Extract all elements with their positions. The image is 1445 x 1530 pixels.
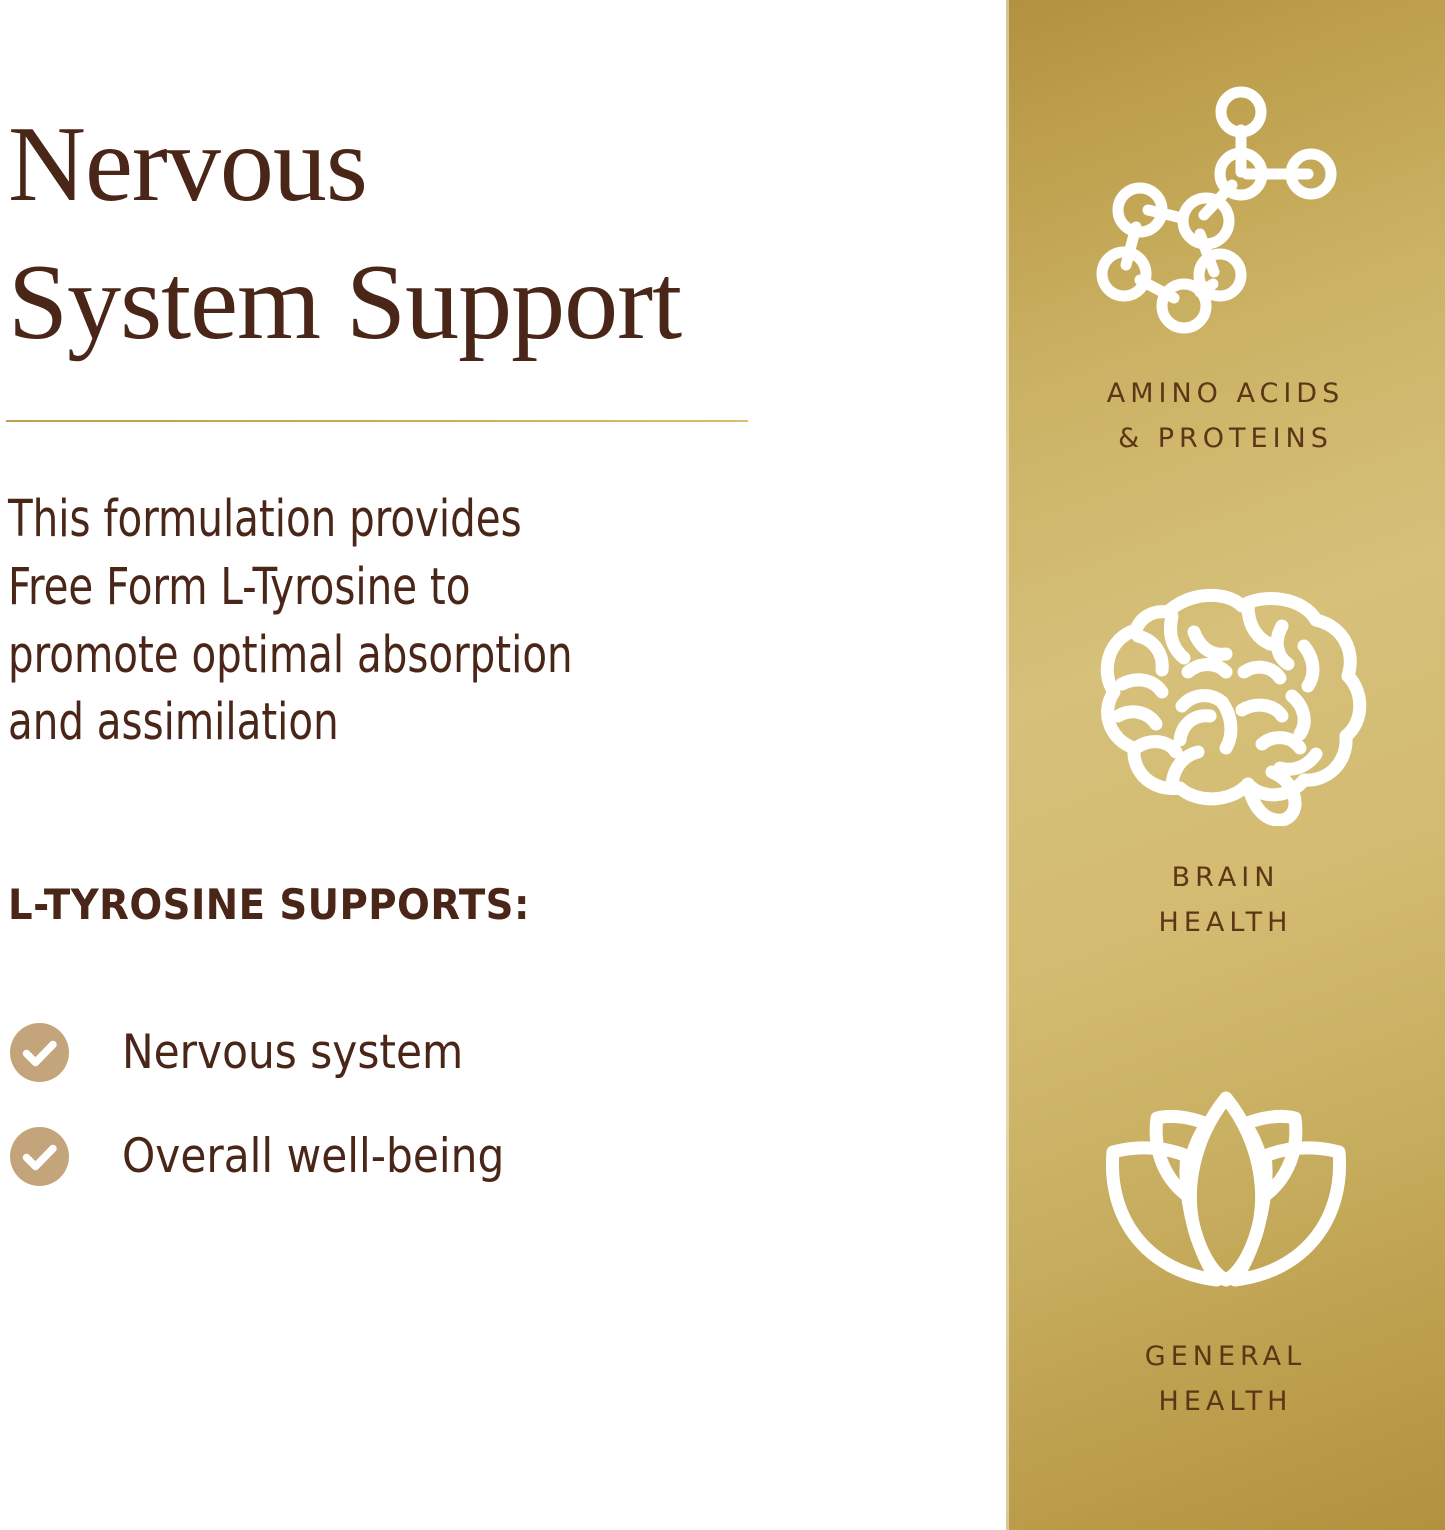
benefit-label: GENERAL HEALTH xyxy=(1145,1335,1306,1424)
title-divider xyxy=(6,420,748,422)
supports-list: Nervous system Overall well-being xyxy=(10,1000,710,1208)
benefit-label-line-2: HEALTH xyxy=(1145,1380,1306,1425)
supports-heading: L-TYROSINE SUPPORTS: xyxy=(8,880,530,929)
intro-line-4: and assimilation xyxy=(8,689,782,757)
benefit-label-line-1: GENERAL xyxy=(1145,1335,1306,1380)
check-icon xyxy=(10,1023,69,1082)
benefits-sidebar: AMINO ACIDS & PROTEINS xyxy=(1006,0,1445,1530)
molecule-icon xyxy=(1096,82,1356,342)
benefit-general-health: GENERAL HEALTH xyxy=(1006,1090,1445,1424)
page-title-line-2: System Support xyxy=(8,234,948,372)
intro-paragraph: This formulation provides Free Form L-Ty… xyxy=(8,486,782,757)
benefit-amino-acids: AMINO ACIDS & PROTEINS xyxy=(1006,82,1445,461)
intro-line-2: Free Form L-Tyrosine to xyxy=(8,554,782,622)
intro-line-1: This formulation provides xyxy=(8,486,782,554)
benefit-label-line-2: HEALTH xyxy=(1159,901,1293,946)
list-item: Nervous system xyxy=(10,1000,710,1104)
benefit-label: AMINO ACIDS & PROTEINS xyxy=(1107,372,1345,461)
list-item: Overall well-being xyxy=(10,1104,710,1208)
intro-line-3: promote optimal absorption xyxy=(8,622,782,690)
lotus-icon xyxy=(1091,1090,1361,1305)
benefit-label: BRAIN HEALTH xyxy=(1159,856,1293,945)
brain-icon xyxy=(1076,576,1376,826)
benefit-brain-health: BRAIN HEALTH xyxy=(1006,576,1445,945)
list-item-label: Nervous system xyxy=(122,1025,463,1080)
product-benefits-panel: Nervous System Support This formulation … xyxy=(0,0,1445,1530)
page-title: Nervous System Support xyxy=(8,96,948,372)
page-title-line-1: Nervous xyxy=(8,96,948,234)
benefit-label-line-1: AMINO ACIDS xyxy=(1107,372,1345,417)
check-icon xyxy=(10,1127,69,1186)
left-content-column: Nervous System Support This formulation … xyxy=(0,0,1006,1530)
list-item-label: Overall well-being xyxy=(122,1129,504,1184)
benefit-label-line-1: BRAIN xyxy=(1159,856,1293,901)
benefit-label-line-2: & PROTEINS xyxy=(1107,417,1345,462)
